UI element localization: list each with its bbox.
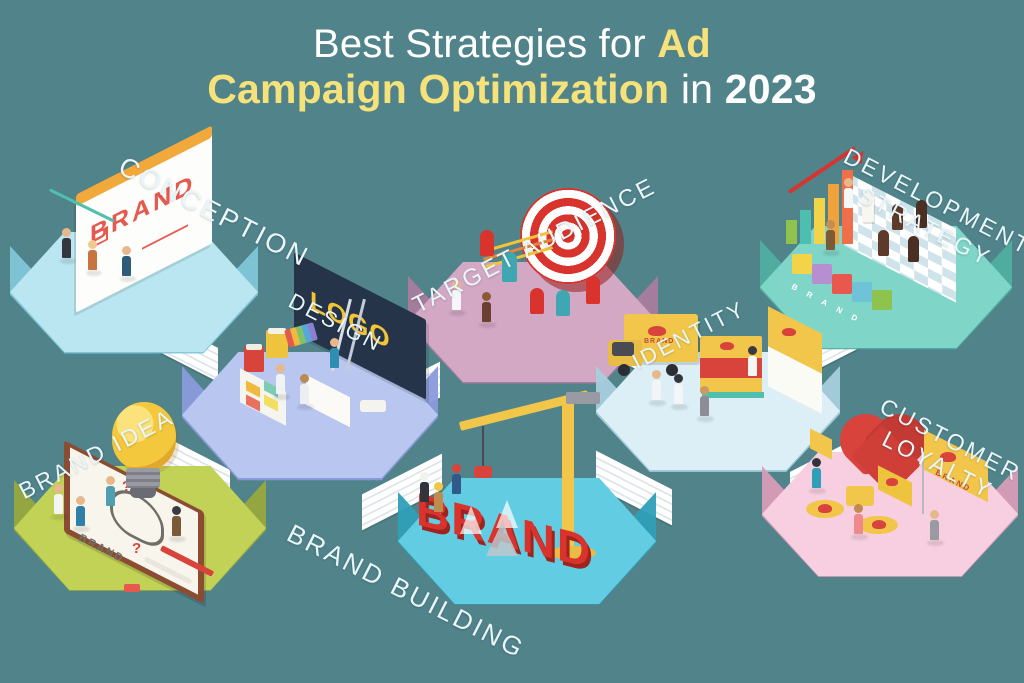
brand-block-n — [852, 282, 872, 302]
infographic-canvas: Best Strategies for Ad Campaign Optimiza… — [0, 0, 1024, 683]
title-line-2: Campaign Optimization in 2023 — [0, 67, 1024, 113]
banner-logo-mark — [782, 328, 796, 336]
chess-piece-dark-3 — [878, 230, 889, 256]
kiosk-logo-mark — [720, 342, 734, 350]
lightbulb-socket — [126, 468, 160, 488]
van-wheel-front — [618, 364, 630, 376]
plate-logo-2 — [872, 520, 886, 529]
question-mark-2: ? — [132, 540, 141, 554]
bar-3 — [814, 198, 825, 244]
chess-piece-dark-4 — [908, 236, 919, 262]
shopping-bag — [846, 486, 874, 506]
bar-1 — [786, 220, 797, 244]
paint-roller — [360, 400, 386, 412]
support-frame-3 — [486, 522, 518, 556]
bar-2 — [800, 210, 811, 244]
brand-block-d — [872, 290, 892, 310]
title-part-regular: Best Strategies for — [313, 22, 657, 66]
plate-logo-1 — [818, 504, 832, 513]
title-part-ad: Ad — [657, 22, 711, 66]
crane-counterweight — [566, 392, 600, 404]
eraser — [124, 584, 140, 592]
platform-conception[interactable]: BRAND — [10, 232, 258, 360]
kiosk-base — [700, 378, 762, 392]
lightbulb-base — [130, 488, 156, 498]
brand-block-r — [812, 264, 832, 284]
flag-small-logo — [886, 478, 898, 486]
brand-block-a — [832, 274, 852, 294]
user-pin-red-2 — [530, 288, 544, 314]
crane-hook-block — [474, 466, 492, 478]
page-title: Best Strategies for Ad Campaign Optimiza… — [0, 22, 1024, 113]
user-pin-red-3 — [586, 276, 600, 304]
title-part-year: 2023 — [725, 66, 817, 112]
title-part-in: in — [669, 66, 725, 112]
support-frame-1 — [460, 506, 482, 534]
user-pin-teal-2 — [556, 290, 570, 316]
paint-can-yellow-lid — [268, 328, 286, 334]
kiosk-plinth — [702, 392, 764, 398]
title-line-1: Best Strategies for Ad — [0, 22, 1024, 67]
title-part-campaign: Campaign Optimization — [207, 66, 669, 112]
paint-can-red-lid — [246, 344, 262, 350]
crane-cable — [482, 426, 484, 468]
brand-block-b — [792, 254, 812, 274]
